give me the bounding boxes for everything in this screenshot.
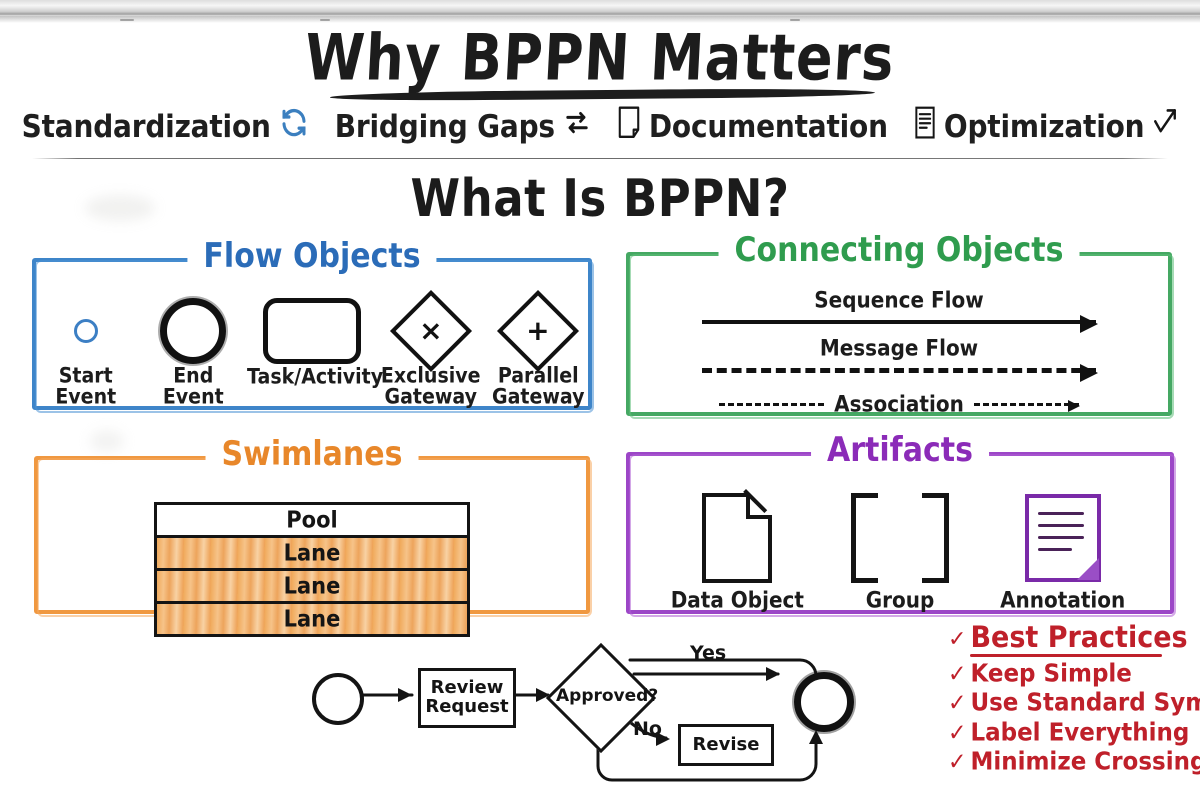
best-practice-item: ✓Label Everything (948, 718, 1200, 750)
artifact-label: Group (825, 587, 975, 613)
cycle-arrows-icon (279, 106, 309, 147)
flow-start-event (312, 673, 364, 725)
best-practice-label: Use Standard Symbols (970, 689, 1200, 717)
example-process-flow: Review Request Approved? Yes No Revise (300, 630, 920, 790)
flow-edge-label-no: No (633, 718, 662, 740)
rising-arrow-icon (1152, 106, 1178, 147)
swimlane-row: Lane (157, 571, 467, 604)
best-practice-label: Minimize Crossing Lines (970, 748, 1200, 776)
best-practices-heading: Best Practices (970, 620, 1187, 654)
check-icon: ✓ (948, 627, 966, 652)
parallel-gateway-icon: + (485, 300, 593, 362)
lane-label: Lane (284, 573, 341, 599)
header-item-documentation: Documentation (617, 106, 888, 147)
artifact-data-object: Data Object (662, 492, 812, 612)
best-practice-item: ✓Keep Simple (948, 659, 1200, 691)
section-title-swimlanes: Swimlanes (206, 435, 419, 474)
sequence-flow-line (702, 320, 1095, 324)
end-event-icon (140, 300, 248, 362)
flow-edge-label-yes: Yes (690, 642, 726, 664)
section-heading: What Is BPPN? (0, 168, 1200, 228)
flow-object-label: Parallel (485, 366, 593, 387)
page-icon (617, 106, 641, 147)
message-flow-line (702, 368, 1095, 373)
arrowhead-icon (1068, 400, 1080, 412)
best-practices-panel: ✓Best Practices ✓Keep Simple ✓Use Standa… (948, 622, 1200, 778)
gateway-glyph: × (419, 317, 442, 345)
check-icon: ✓ (948, 690, 966, 717)
connector-sequence-flow: Sequence Flow (626, 288, 1172, 336)
check-icon: ✓ (948, 720, 966, 747)
section-swimlanes: Swimlanes Pool Lane Lane Lane (34, 456, 590, 614)
header-item-label: Documentation (649, 108, 888, 145)
connector-label: Message Flow (626, 335, 1172, 361)
pool-label: Pool (286, 507, 337, 533)
header-item-bridging-gaps: Bridging Gaps (335, 107, 591, 146)
gateway-glyph: + (527, 317, 550, 345)
brackets-icon (825, 492, 975, 584)
swimlane-pool: Pool Lane Lane Lane (154, 502, 470, 637)
best-practices-heading-row: ✓Best Practices (948, 622, 1200, 653)
start-event-icon (32, 300, 140, 362)
tray-smudge (120, 19, 134, 21)
artifacts-row: Data Object Group An (626, 492, 1174, 612)
flow-object-label-2: Gateway (377, 387, 485, 408)
swimlane-row: Lane (157, 538, 467, 571)
flow-object-parallel-gateway: + Parallel Gateway (485, 300, 593, 407)
flow-object-label-2: Gateway (485, 387, 593, 408)
best-practice-label: Keep Simple (970, 660, 1131, 688)
connector-message-flow: Message Flow (626, 336, 1172, 384)
flow-task-review-request: Review Request (418, 668, 516, 728)
artifact-group: Group (825, 492, 975, 612)
section-title-flow-objects: Flow Objects (187, 237, 436, 276)
exclusive-gateway-icon: × (377, 300, 485, 362)
page-title-wrap: Why BPPN Matters (0, 26, 1200, 89)
best-practice-item: ✓Minimize Crossing Lines (948, 747, 1200, 779)
header-item-label: Standardization (22, 108, 271, 145)
association-line-right (974, 403, 1079, 406)
flow-object-end-event: End Event (140, 300, 248, 407)
flow-object-start-event: Start Event (32, 300, 140, 407)
connecting-objects-rows: Sequence Flow Message Flow Association (626, 288, 1172, 424)
arrowhead-icon (1080, 315, 1098, 333)
flow-objects-row: Start Event End Event Task/Activity (32, 300, 592, 407)
best-practice-item: ✓Use Standard Symbols (948, 688, 1200, 720)
artifact-annotation: Annotation (988, 492, 1138, 612)
section-title-connecting-objects: Connecting Objects (719, 231, 1080, 270)
flow-object-label: Start (32, 366, 140, 387)
task-activity-icon (247, 300, 377, 362)
flow-task-label: Revise (693, 736, 760, 755)
header-item-label: Bridging Gaps (335, 108, 555, 145)
lined-document-icon (914, 106, 936, 147)
board-smudge (90, 430, 124, 452)
flow-object-label-2: Event (32, 387, 140, 408)
flow-object-exclusive-gateway: × Exclusive Gateway (377, 300, 485, 407)
flow-object-label: Task/Activity (247, 367, 377, 388)
section-artifacts: Artifacts Data Object Group (626, 452, 1174, 614)
flow-task-revise: Revise (678, 724, 774, 766)
check-icon: ✓ (948, 661, 966, 688)
artifact-label: Annotation (988, 587, 1138, 613)
check-icon: ✓ (948, 749, 966, 776)
association-line-left (719, 403, 824, 406)
page-title: Why BPPN Matters (295, 20, 904, 94)
connector-label: Sequence Flow (626, 287, 1172, 313)
section-flow-objects: Flow Objects Start Event End Event (32, 258, 592, 410)
header-item-label: Optimization (944, 108, 1145, 145)
arrowhead-icon (1080, 364, 1098, 382)
header-item-optimization: Optimization (914, 106, 1179, 147)
whiteboard-canvas: Why BPPN Matters Standardization Bridgin… (0, 0, 1200, 800)
flow-object-label-2: Event (140, 387, 248, 408)
lane-label: Lane (284, 540, 341, 566)
lane-label: Lane (284, 606, 341, 632)
whiteboard-tray (0, 0, 1200, 16)
flow-object-label: Exclusive (377, 366, 485, 387)
header-feature-row: Standardization Bridging Gaps (0, 108, 1200, 145)
flow-object-task: Task/Activity (247, 300, 377, 387)
exchange-arrows-icon (563, 107, 591, 146)
header-divider (32, 158, 1168, 159)
best-practice-label: Label Everything (970, 719, 1189, 747)
document-icon (662, 492, 812, 584)
connector-label: Association (834, 391, 964, 417)
section-connecting-objects: Connecting Objects Sequence Flow Message… (626, 252, 1172, 416)
section-title-artifacts: Artifacts (811, 431, 989, 470)
pool-header-row: Pool (157, 505, 467, 538)
header-item-standardization: Standardization (22, 106, 309, 147)
artifact-label: Data Object (662, 587, 812, 613)
flow-object-label: End (140, 366, 248, 387)
flow-end-event (794, 672, 854, 732)
flow-gateway-label: Approved? (556, 686, 658, 706)
sticky-note-icon (988, 492, 1138, 584)
flow-task-label-line2: Request (425, 698, 508, 717)
connector-association: Association (626, 384, 1172, 424)
